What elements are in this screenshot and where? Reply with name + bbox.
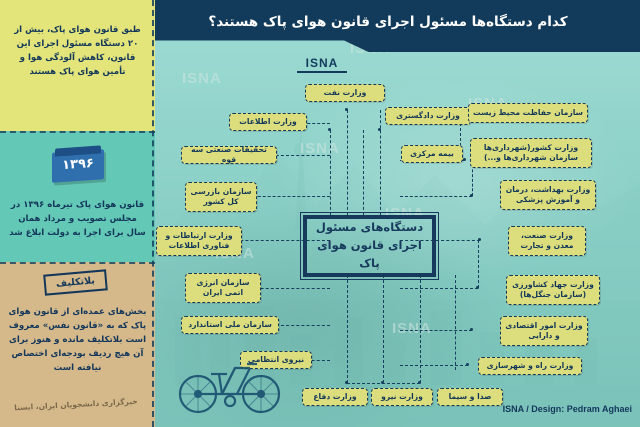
connector (330, 130, 331, 215)
watermark-isna: ISNA (392, 320, 432, 337)
year-panel-text: قانون هوای پاک تیرماه ۱۳۹۶ در مجلس تصویب… (8, 199, 147, 241)
node-economy[interactable]: وزارت امور اقتصادی و دارایی (500, 316, 588, 346)
calendar-icon: ۱۳۹۶ (52, 145, 104, 183)
connector (347, 275, 348, 383)
connector (380, 110, 381, 215)
page-title: کدام دستگاه‌ها مسئول اجرای قانون هوای پا… (168, 14, 608, 30)
brand-logo: ISNA (292, 56, 352, 70)
node-industry[interactable]: وزارت صنعت، معدن و تجارت (508, 226, 586, 256)
sidebar-divider (0, 131, 155, 133)
connector (363, 130, 364, 215)
connector (400, 288, 478, 289)
design-credit: ISNA / Design: Pedram Aghaei (503, 404, 632, 414)
node-roads[interactable]: وزارت راه و شهرسازی (478, 357, 582, 375)
watermark-isna: ISNA (182, 70, 222, 87)
node-ict[interactable]: وزارت ارتباطات و فناوری اطلاعات (156, 226, 242, 256)
node-atomic-energy[interactable]: سازمان انرژی اتمی ایران (185, 273, 261, 303)
bicycle-icon (175, 352, 285, 414)
node-defense[interactable]: وزارت دفاع (302, 388, 368, 406)
node-energy[interactable]: وزارت نیرو (371, 388, 433, 406)
node-broadcasting[interactable]: صدا و سیما (437, 388, 503, 406)
sidebar-divider (0, 262, 155, 264)
sidebar: طبق قانون هوای پاک، بیش از ۲۰ دستگاه مسئ… (0, 0, 155, 427)
connector (400, 196, 472, 197)
node-industrial-research[interactable]: تحقیقات صنعتی سه قوه (181, 146, 277, 164)
diagram-center-node[interactable]: دستگاه‌های مسئول اجرای قانون هوای پاک (303, 215, 436, 277)
node-justice[interactable]: وزارت دادگستری (385, 107, 471, 125)
connector (420, 275, 421, 383)
sidebar-panel-law-summary: طبق قانون هوای پاک، بیش از ۲۰ دستگاه مسئ… (0, 0, 155, 131)
node-interior[interactable]: وزارت کشور(شهرداری‌ها سازمان شهرداری‌ها … (470, 138, 592, 168)
infographic-root: ISNA ISNA ISNA ISNA ISNA ISNA ISNA ISNA … (0, 0, 640, 427)
sidebar-main-divider (152, 0, 154, 427)
node-environment[interactable]: سازمان حفاظت محیط زیست (468, 103, 588, 123)
status-badge-pending: بلاتکلیف (43, 269, 108, 295)
connector (478, 240, 479, 288)
node-inspection[interactable]: سازمان بازرسی کل کشور (185, 182, 257, 212)
pending-panel-text: بخش‌های عمده‌ای از قانون هوای پاک که به … (8, 306, 147, 376)
node-oil[interactable]: وزارت نفت (305, 84, 385, 102)
node-central-insurance[interactable]: بیمه مرکزی (401, 145, 463, 163)
connector (383, 275, 384, 383)
node-health[interactable]: وزارت بهداشت، درمان و آموزش پزشکی (500, 180, 596, 210)
node-intelligence[interactable]: وزارت اطلاعات (229, 113, 307, 131)
connector (400, 365, 468, 366)
node-standard[interactable]: سازمان ملی استاندارد (181, 316, 279, 334)
law-summary-text: طبق قانون هوای پاک، بیش از ۲۰ دستگاه مسئ… (8, 24, 147, 80)
connector (455, 275, 456, 370)
connector (400, 330, 472, 331)
connector (347, 110, 348, 215)
sidebar-panel-year: ۱۳۹۶ قانون هوای پاک تیرماه ۱۳۹۶ در مجلس … (0, 131, 155, 262)
node-agriculture[interactable]: وزارت جهاد کشاورزی (سازمان جنگل‌ها) (506, 275, 600, 305)
